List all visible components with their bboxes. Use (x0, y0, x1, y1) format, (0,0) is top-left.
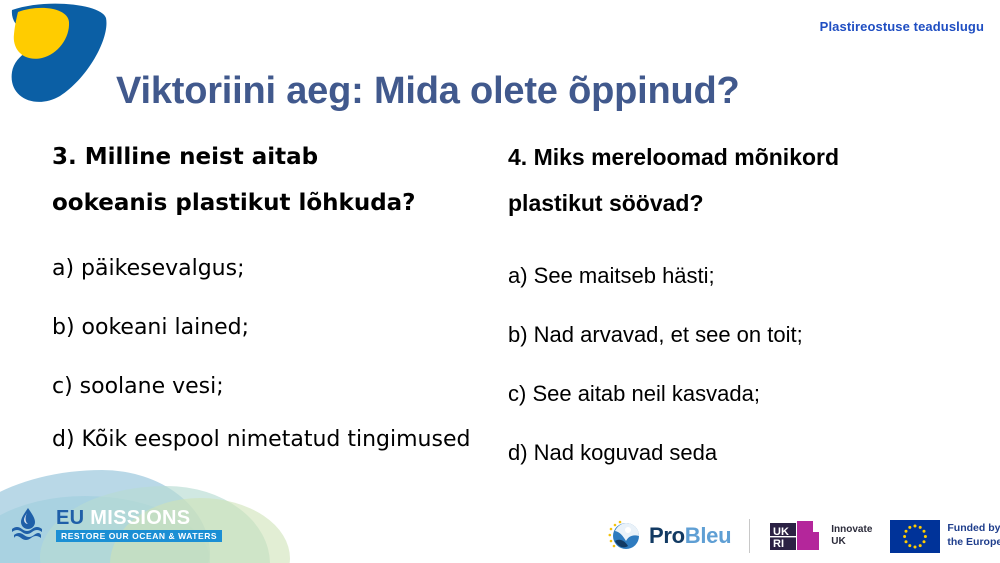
question-3-answers: a) päikesevalgus; b) ookeani lained; c) … (52, 239, 482, 464)
eu-missions-eu: EU (56, 507, 84, 529)
question-4-text: 4. Miks mereloomad mõnikord plastikut sö… (508, 134, 938, 226)
answer-option[interactable]: a) See maitseb hästi; (508, 246, 938, 305)
slide-canvas: Plastireostuse teaduslugu Viktoriini aeg… (0, 0, 1000, 563)
question-column-right: 4. Miks mereloomad mõnikord plastikut sö… (508, 134, 938, 482)
eu-missions-logo: EU MISSIONS RESTORE OUR OCEAN & WATERS (8, 506, 222, 544)
probleu-pro: Pro (649, 523, 685, 548)
probleu-logo: ProBleu (608, 516, 731, 556)
eu-missions-text: EU MISSIONS RESTORE OUR OCEAN & WATERS (56, 508, 222, 543)
answer-option[interactable]: a) päikesevalgus; (52, 239, 482, 298)
logo-divider (749, 519, 750, 553)
question-3-line-1: 3. Milline neist aitab (52, 144, 318, 170)
eu-missions-wordmark: EU MISSIONS (56, 508, 222, 528)
question-column-left: 3. Milline neist aitab ookeanis plastiku… (52, 134, 482, 464)
funded-by-eu-logo: Funded by the European Union (890, 516, 1000, 556)
probleu-bleu: Bleu (685, 523, 731, 548)
question-3-line-2: ookeanis plastikut lõhkuda? (52, 190, 416, 216)
probleu-wordmark: ProBleu (649, 523, 731, 549)
answer-option[interactable]: b) ookeani lained; (52, 298, 482, 357)
innovate-uk-line-1: Innovate (831, 524, 872, 537)
answer-option[interactable]: d) Kõik eespool nimetatud tingimused (52, 416, 482, 464)
innovate-uk-logo: UK RI Innovate UK (768, 516, 872, 556)
funded-by-eu-line-1: Funded by (947, 522, 1000, 536)
water-drop-waves-icon (8, 506, 48, 544)
funded-by-eu-line-2: the European Union (947, 536, 1000, 550)
ocean-wave-drop-logo-icon (6, 2, 110, 104)
innovate-uk-text: Innovate UK (831, 524, 872, 549)
funder-logo-strip: ProBleu UK RI Innovate UK (608, 516, 1000, 556)
answer-option[interactable]: d) Nad koguvad seda (508, 423, 938, 482)
funded-by-eu-text: Funded by the European Union (947, 522, 1000, 549)
ukri-mark-icon: UK RI (768, 519, 824, 553)
question-4-line-2: plastikut söövad? (508, 190, 704, 216)
question-4-line-1: 4. Miks mereloomad mõnikord (508, 144, 839, 170)
eu-missions-strapline: RESTORE OUR OCEAN & WATERS (56, 530, 222, 543)
answer-option[interactable]: b) Nad arvavad, et see on toit; (508, 305, 938, 364)
eu-flag-icon (890, 519, 940, 553)
svg-text:RI: RI (773, 538, 784, 550)
question-3-text: 3. Milline neist aitab ookeanis plastiku… (52, 134, 482, 226)
answer-option[interactable]: c) soolane vesi; (52, 357, 482, 416)
probleu-globe-icon (608, 519, 642, 553)
eu-missions-missions: MISSIONS (90, 507, 190, 529)
innovate-uk-line-2: UK (831, 536, 872, 549)
question-4-answers: a) See maitseb hästi; b) Nad arvavad, et… (508, 246, 938, 482)
page-title: Viktoriini aeg: Mida olete õppinud? (116, 70, 740, 113)
header-label: Plastireostuse teaduslugu (820, 19, 984, 34)
answer-option[interactable]: c) See aitab neil kasvada; (508, 364, 938, 423)
